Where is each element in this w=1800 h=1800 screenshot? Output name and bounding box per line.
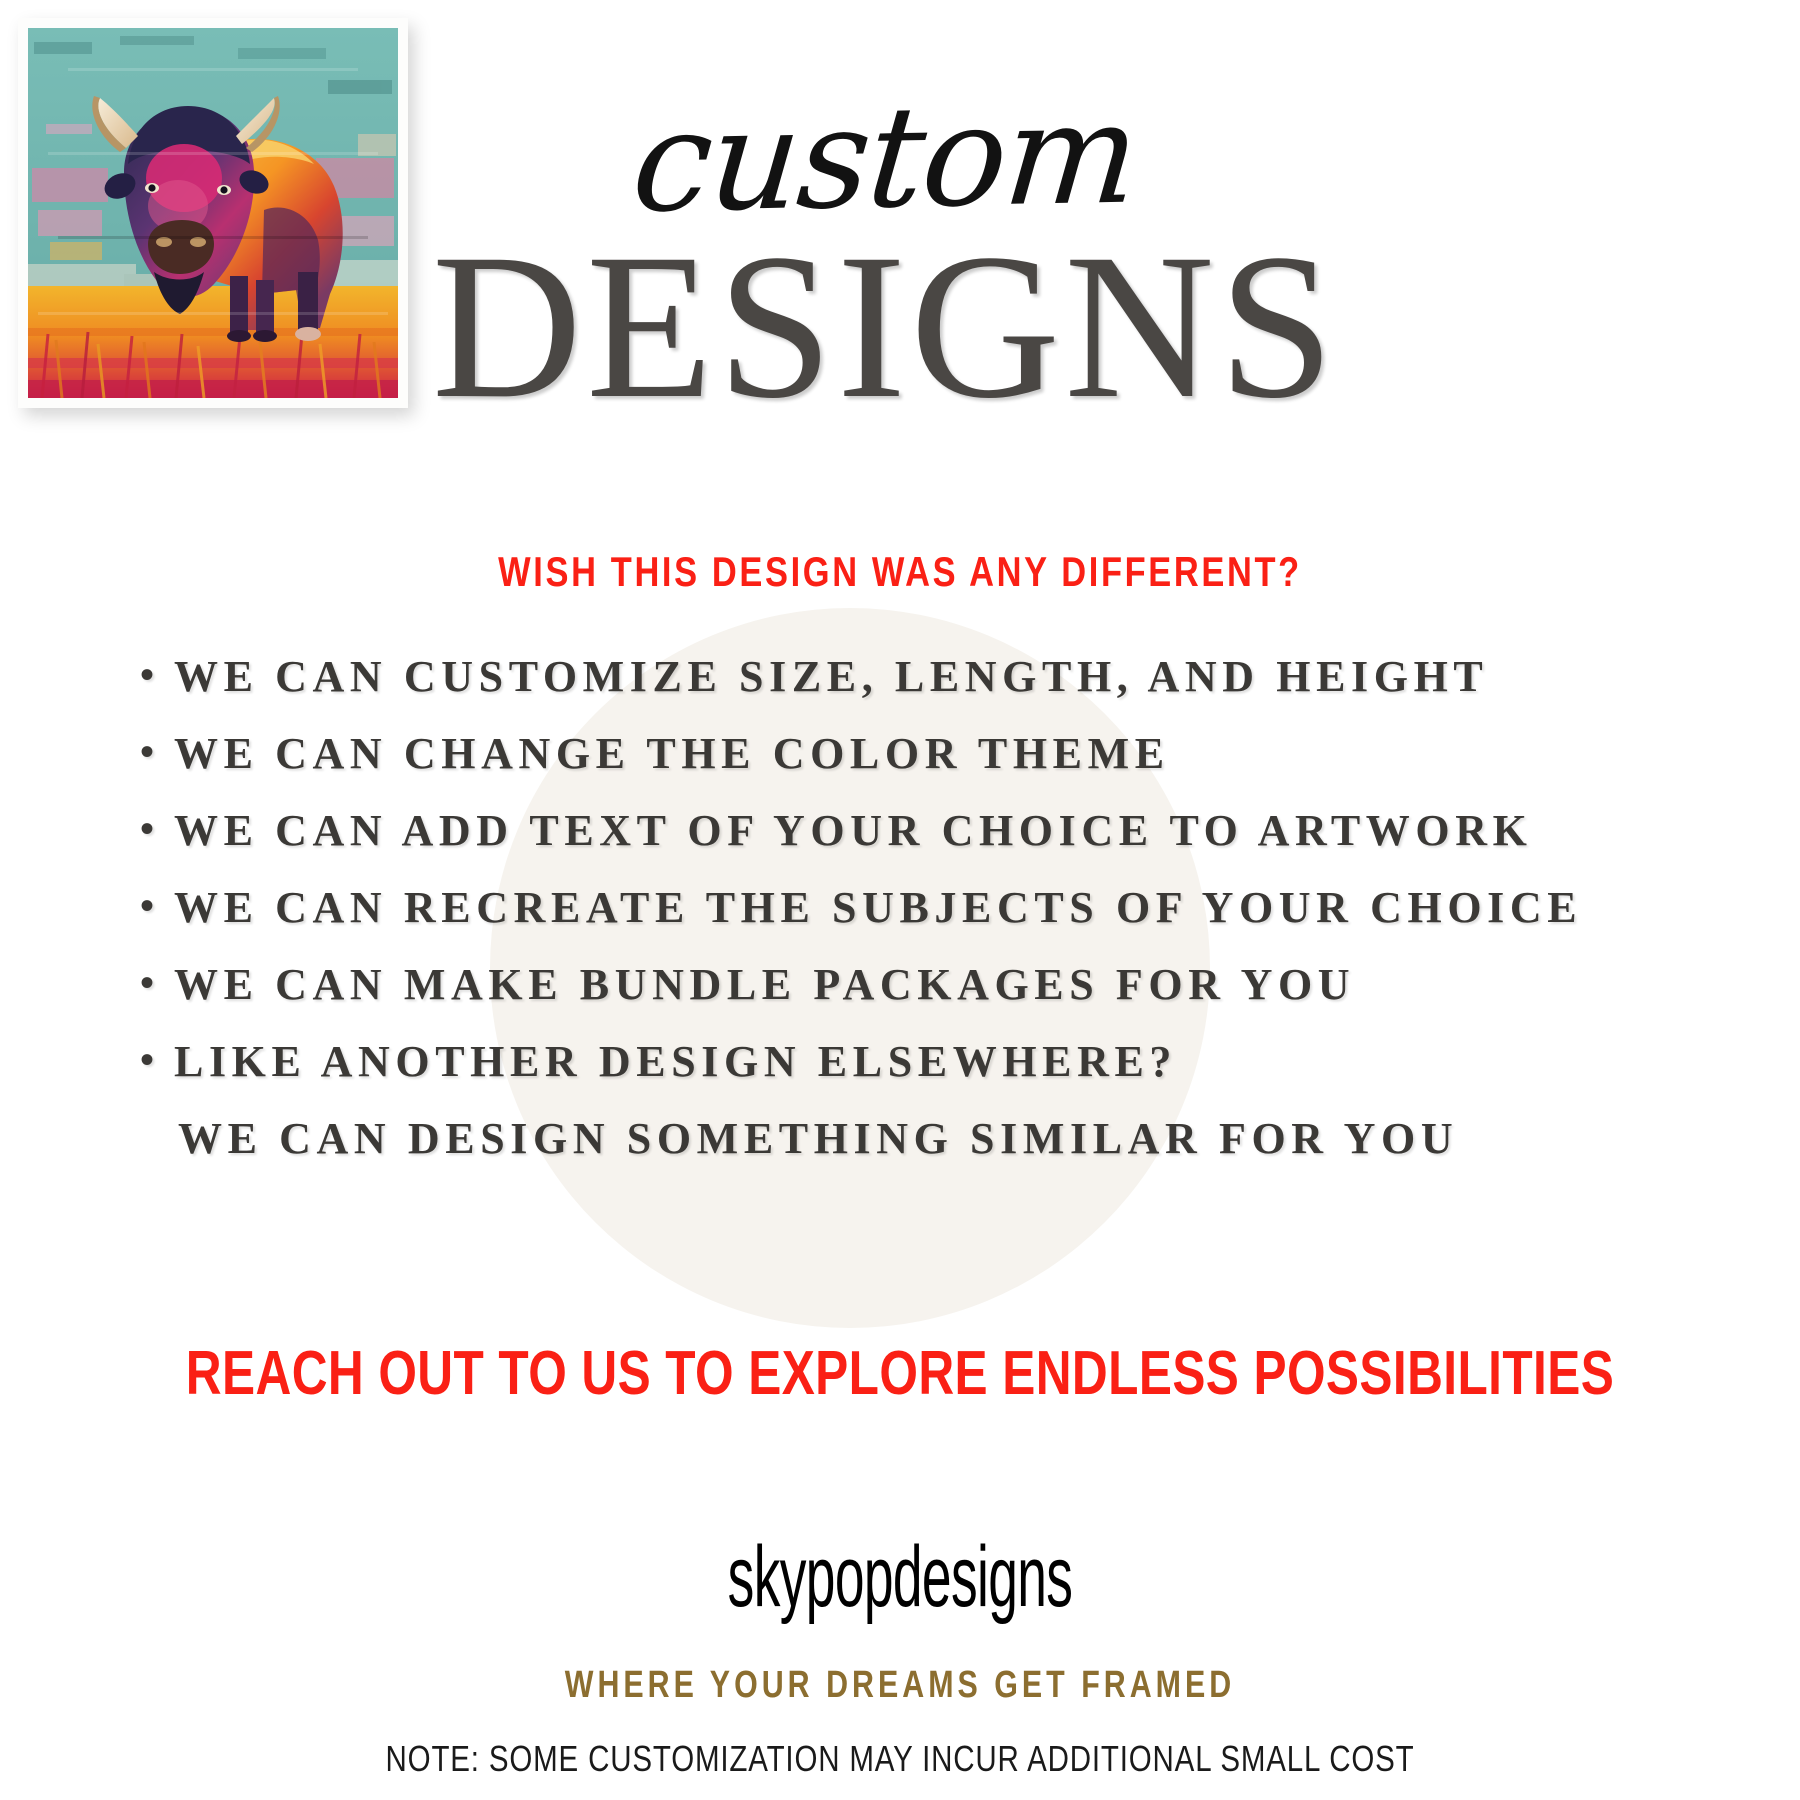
list-item-continuation: • WE CAN DESIGN SOMETHING SIMILAR FOR YO… bbox=[140, 1117, 1700, 1161]
custom-designs-poster: custom DESIGNS WISH THIS DESIGN WAS ANY … bbox=[0, 0, 1800, 1800]
list-item-label: WE CAN DESIGN SOMETHING SIMILAR FOR YOU bbox=[174, 1117, 1700, 1161]
footer-note: NOTE: SOME CUSTOMIZATION MAY INCUR ADDIT… bbox=[162, 1738, 1638, 1780]
list-item: • WE CAN MAKE BUNDLE PACKAGES FOR YOU bbox=[140, 963, 1700, 1007]
brand-logo-text: skypopdesigns bbox=[342, 1528, 1458, 1627]
bison-painting-image bbox=[28, 28, 398, 398]
list-item: • WE CAN CHANGE THE COLOR THEME bbox=[140, 732, 1700, 776]
red-subtitle: WISH THIS DESIGN WAS ANY DIFFERENT? bbox=[162, 548, 1638, 596]
bullet-dot-icon: • bbox=[140, 1040, 174, 1080]
call-to-action-text: REACH OUT TO US TO EXPLORE ENDLESS POSSI… bbox=[180, 1338, 1620, 1409]
bullet-dot-icon: • bbox=[140, 655, 174, 695]
list-item-label: WE CAN CUSTOMIZE SIZE, LENGTH, AND HEIGH… bbox=[174, 655, 1700, 699]
list-item: • WE CAN ADD TEXT OF YOUR CHOICE TO ARTW… bbox=[140, 809, 1700, 853]
list-item-label: LIKE ANOTHER DESIGN ELSEWHERE? bbox=[174, 1040, 1700, 1084]
page-title: DESIGNS bbox=[380, 228, 1390, 426]
list-item: • LIKE ANOTHER DESIGN ELSEWHERE? bbox=[140, 1040, 1700, 1084]
artwork-frame bbox=[18, 18, 408, 408]
script-title: custom bbox=[374, 86, 1397, 232]
list-item: • WE CAN RECREATE THE SUBJECTS OF YOUR C… bbox=[140, 886, 1700, 930]
bullet-dot-icon: • bbox=[140, 809, 174, 849]
brand-tagline: WHERE YOUR DREAMS GET FRAMED bbox=[180, 1664, 1620, 1707]
bullet-dot-icon: • bbox=[140, 732, 174, 772]
list-item-label: WE CAN MAKE BUNDLE PACKAGES FOR YOU bbox=[174, 963, 1700, 1007]
list-item: • WE CAN CUSTOMIZE SIZE, LENGTH, AND HEI… bbox=[140, 655, 1700, 699]
bullet-dot-icon: • bbox=[140, 886, 174, 926]
list-item-label: WE CAN ADD TEXT OF YOUR CHOICE TO ARTWOR… bbox=[174, 809, 1700, 853]
bullet-dot-icon: • bbox=[140, 963, 174, 1003]
list-item-label: WE CAN CHANGE THE COLOR THEME bbox=[174, 732, 1700, 776]
list-item-label: WE CAN RECREATE THE SUBJECTS OF YOUR CHO… bbox=[174, 886, 1700, 930]
feature-bullet-list: • WE CAN CUSTOMIZE SIZE, LENGTH, AND HEI… bbox=[140, 655, 1700, 1161]
header-block: custom DESIGNS bbox=[380, 95, 1390, 425]
